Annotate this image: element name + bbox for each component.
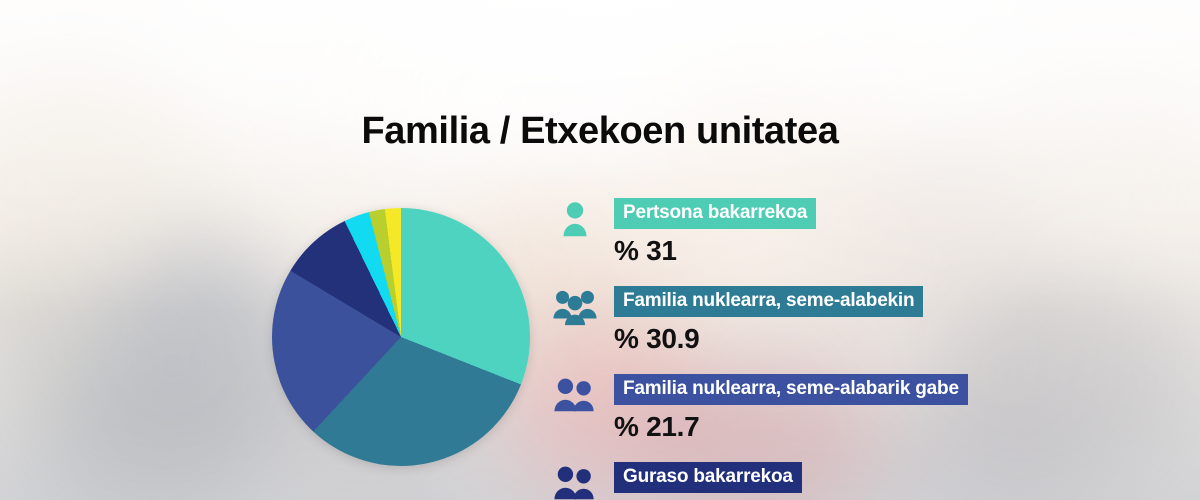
single-person-icon [552,198,598,238]
two-people-icon [552,374,598,414]
page-title: Familia / Etxekoen unitatea [0,110,1200,153]
pie-chart [272,208,530,466]
legend-item[interactable]: Familia nuklearra, seme-alabarik gabe% 2… [552,372,1192,460]
legend-label-badge: Guraso bakarrekoa [614,462,802,493]
legend-label-badge: Familia nuklearra, seme-alabarik gabe [614,374,968,405]
legend-value: % 30.9 [614,322,699,356]
legend-value: % 31 [614,234,677,268]
legend-label-badge: Pertsona bakarrekoa [614,198,816,229]
infographic-stage: Familia / Etxekoen unitatea Pertsona bak… [0,0,1200,500]
three-people-icon [552,286,598,326]
legend-item[interactable]: Familia nuklearra, seme-alabekin% 30.9 [552,284,1192,372]
two-people-icon [552,462,598,500]
infographic-content: Familia / Etxekoen unitatea Pertsona bak… [0,0,1200,500]
legend-item[interactable]: Guraso bakarrekoa [552,460,1192,500]
legend-item[interactable]: Pertsona bakarrekoa% 31 [552,196,1192,284]
legend-value: % 21.7 [614,410,699,444]
pie-chart-slices [272,208,530,466]
legend: Pertsona bakarrekoa% 31Familia nuklearra… [552,196,1192,500]
legend-label-badge: Familia nuklearra, seme-alabekin [614,286,923,317]
